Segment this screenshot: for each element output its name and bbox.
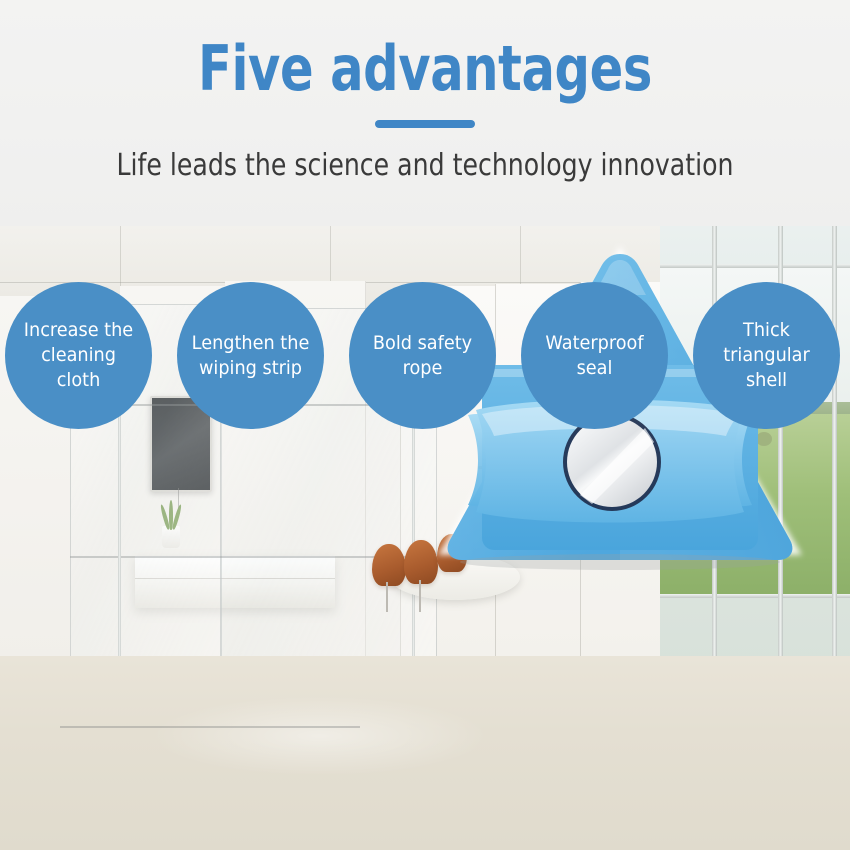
page-title: Five advantages (85, 36, 765, 102)
badge-label: Waterproof seal (535, 331, 655, 381)
badge-label: Bold safety rope (363, 331, 483, 381)
dining-chair (372, 544, 406, 586)
header-band: Five advantages Life leads the science a… (0, 0, 850, 226)
product-shadow (460, 554, 780, 570)
title-divider (375, 120, 475, 128)
chair-leg (386, 582, 388, 612)
window-transom (660, 594, 850, 598)
badge-waterproof-seal[interactable]: Waterproof seal (521, 282, 668, 429)
badge-label: Lengthen the wiping strip (191, 331, 311, 381)
badge-bold-safety-rope[interactable]: Bold safety rope (349, 282, 496, 429)
badge-increase-cleaning-cloth[interactable]: Increase the cleaning cloth (5, 282, 152, 429)
chair-leg (419, 580, 421, 612)
badge-lengthen-wiping-strip[interactable]: Lengthen the wiping strip (177, 282, 324, 429)
advantage-badges: Increase the cleaning cloth Lengthen the… (0, 282, 850, 432)
floor-reflection (150, 696, 490, 776)
page-subtitle: Life leads the science and technology in… (68, 146, 782, 186)
product-infographic: Increase the cleaning cloth Lengthen the… (0, 0, 850, 850)
badge-label: Thick triangular shell (707, 318, 827, 393)
glass-floor-trim (60, 726, 360, 728)
badge-thick-triangular-shell[interactable]: Thick triangular shell (693, 282, 840, 429)
badge-label: Increase the cleaning cloth (19, 318, 139, 393)
